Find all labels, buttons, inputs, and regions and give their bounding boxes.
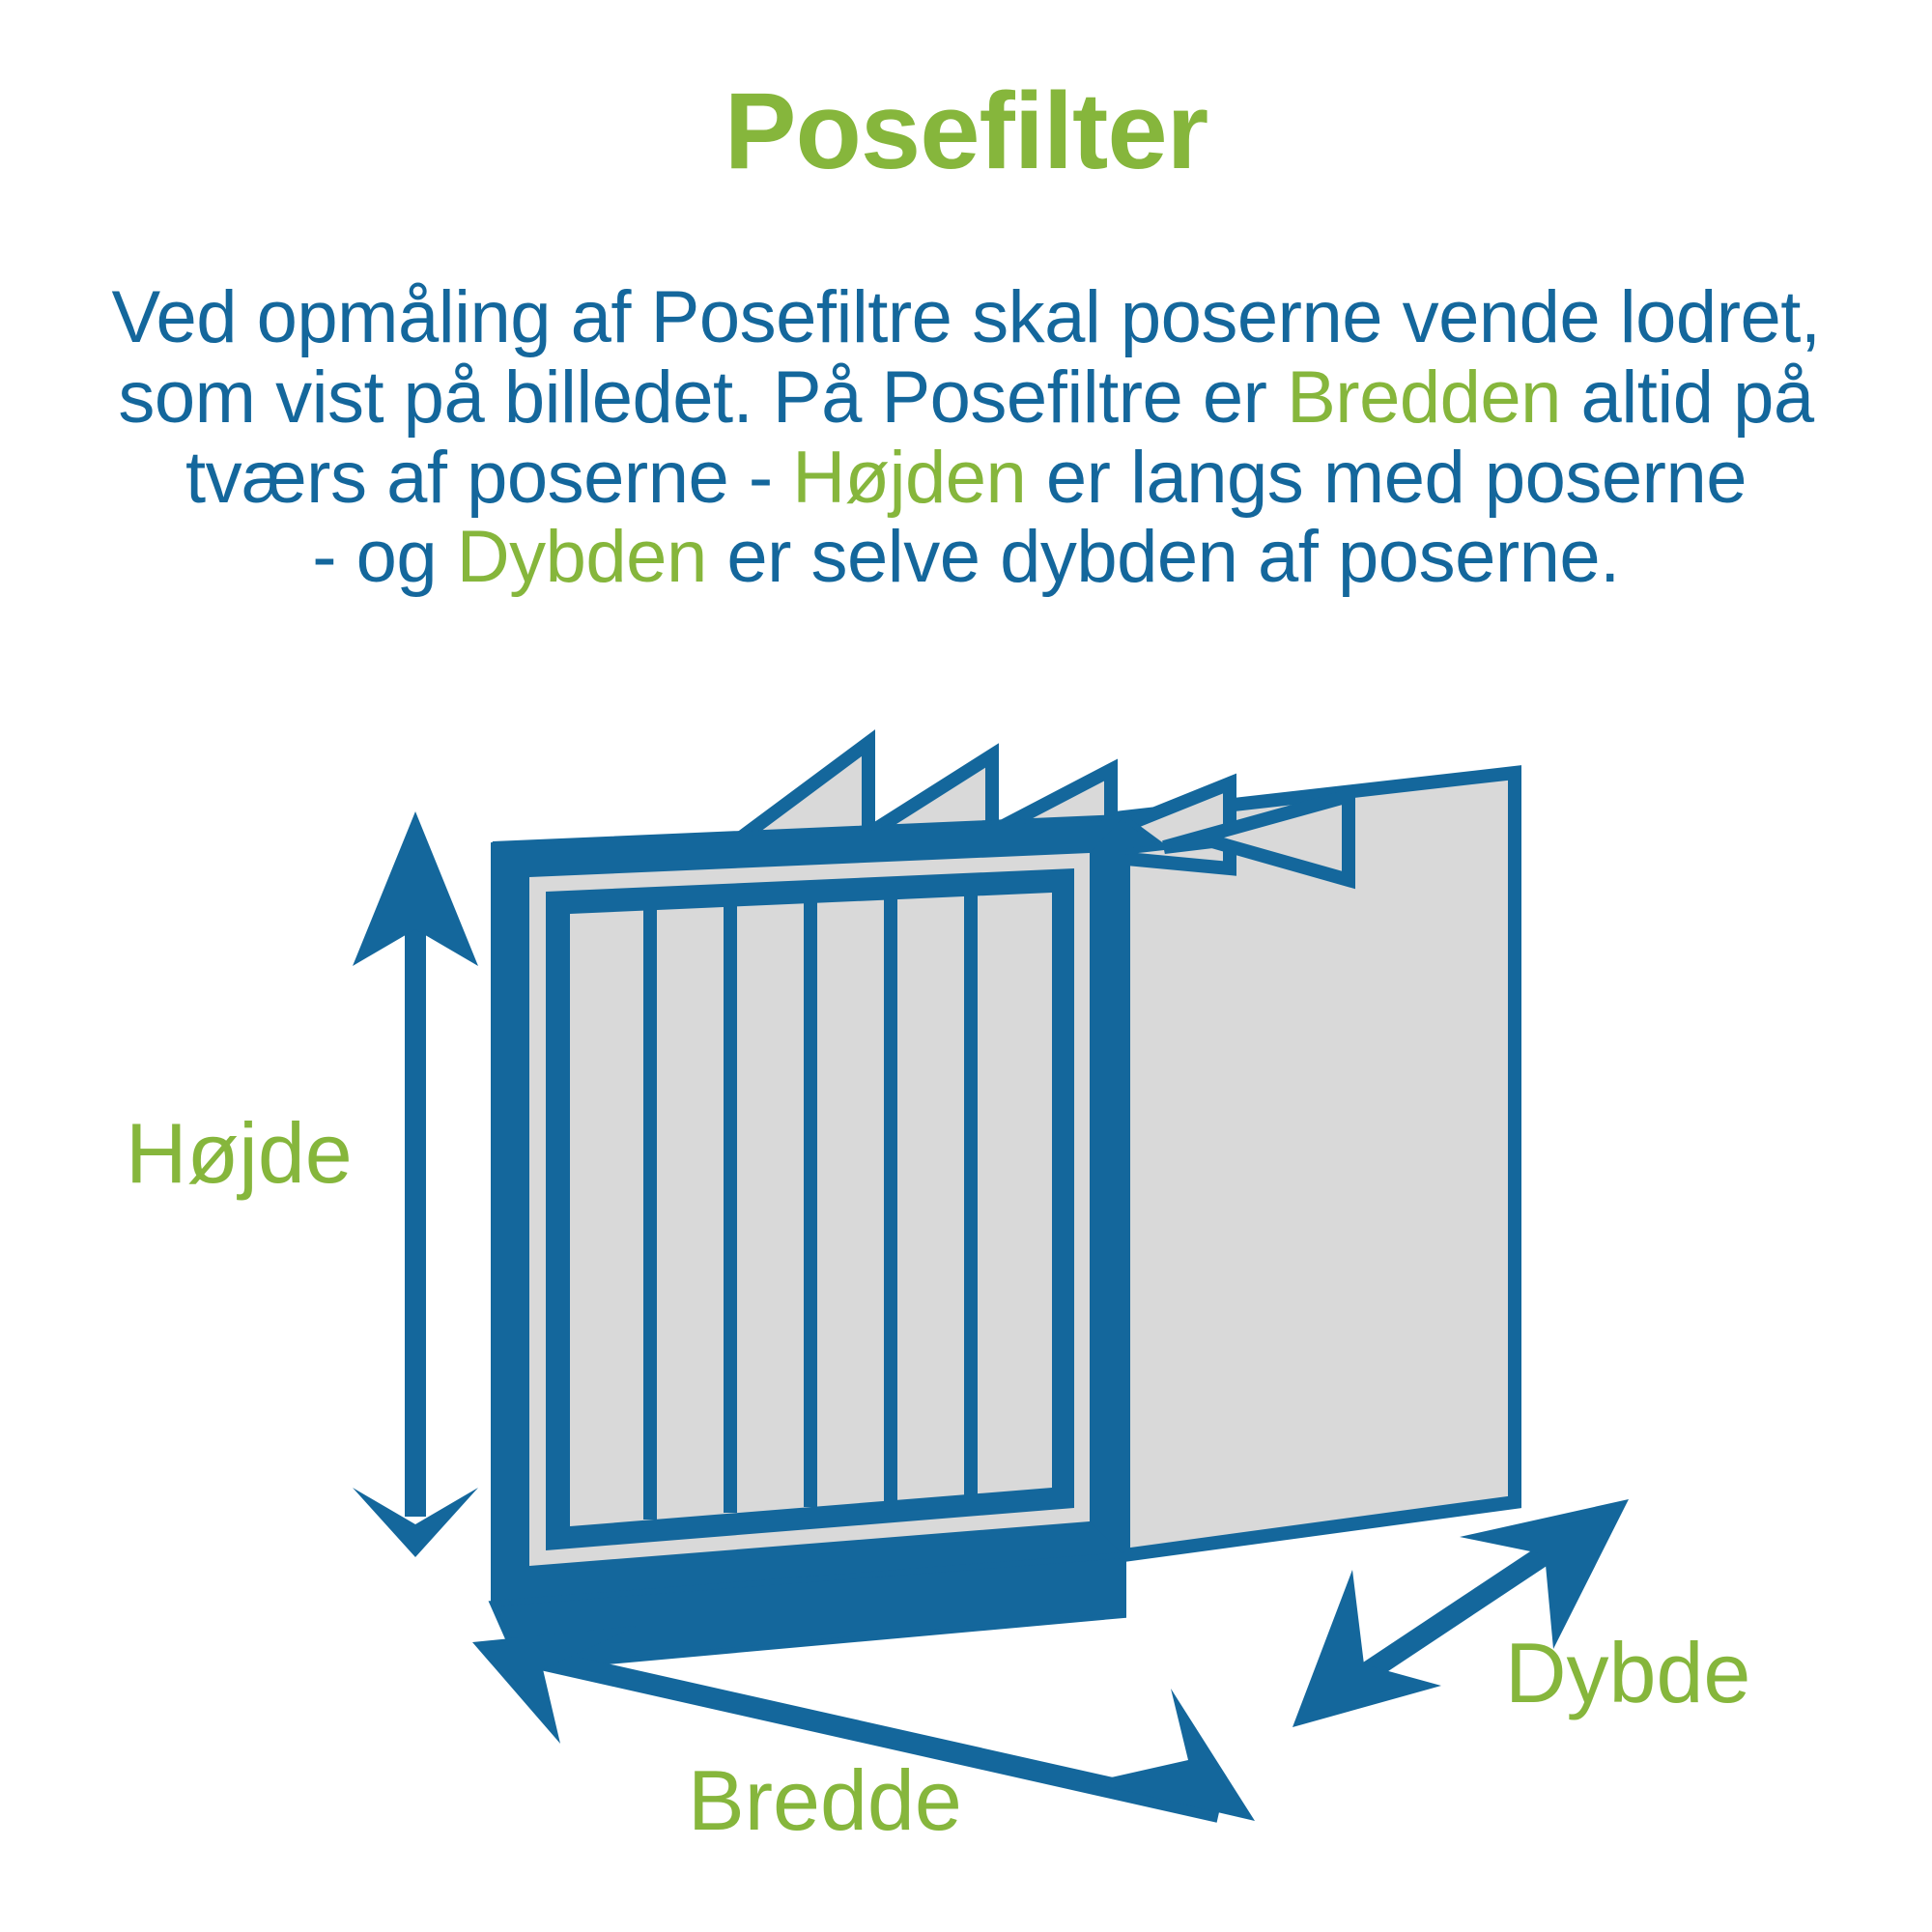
- height-dimension-label: Højde: [126, 1111, 353, 1196]
- bag-filter-body: [493, 743, 1515, 1669]
- pocket-side-panel-back: [1123, 773, 1515, 1555]
- frame-right-corner-post: [1090, 817, 1123, 1555]
- height-dimension-arrow: [353, 811, 478, 1557]
- depth-dimension-label: Dybde: [1505, 1631, 1750, 1716]
- width-arrow-head-right: [1090, 1689, 1255, 1821]
- poster-canvas: Posefilter Ved opmåling af Posefiltre sk…: [0, 0, 1932, 1932]
- width-dimension-label: Bredde: [688, 1758, 962, 1843]
